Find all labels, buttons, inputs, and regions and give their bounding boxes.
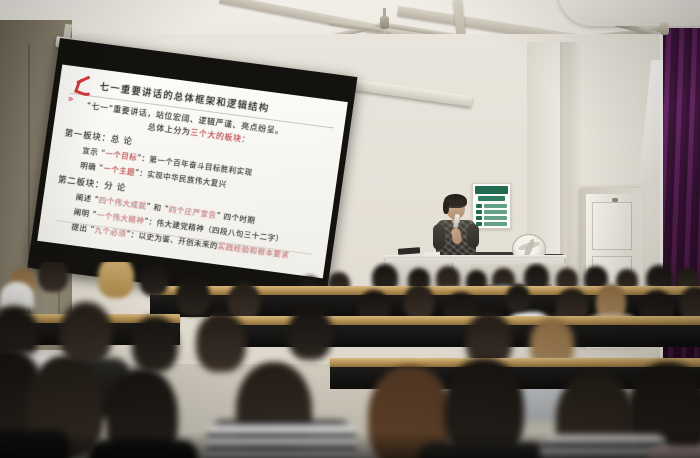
striped-shirt-attendee (206, 420, 356, 458)
notice-row (476, 204, 507, 208)
notice-line (484, 216, 507, 220)
desk-row (330, 358, 700, 367)
s2i1-e: ” 四个时期 (216, 211, 256, 225)
s1i2-a: 明确 “ (80, 161, 104, 173)
audience-head (140, 264, 168, 296)
door-hinge (612, 198, 618, 202)
audience-head (196, 312, 246, 372)
desk-row (210, 316, 700, 325)
audience-head (288, 306, 332, 360)
s2i1-a: 阐述 “ (75, 192, 99, 204)
s2i1-d: 四个庄严宣告 (168, 205, 217, 220)
audience-head (132, 316, 178, 372)
glasses-icon (447, 204, 464, 209)
s1i1-b: 一个目标 (105, 149, 138, 162)
notice-board-subheader (478, 196, 505, 201)
intro2-a: 总体上分为 (147, 122, 191, 137)
notice-line (484, 222, 507, 226)
audience-head-blonde (98, 262, 134, 298)
audience-head (404, 284, 434, 320)
slide-content: 七一重要讲话的总体框架和逻辑结构 » “七一”重要讲话，站位宏阔、逻辑严谨、亮点… (49, 74, 339, 266)
audience-area (0, 262, 700, 458)
fan-hub (380, 16, 389, 29)
presenter-sleeve (433, 224, 445, 250)
notice-board-header (475, 186, 508, 194)
lecture-hall-photo: 七一重要讲话的总体框架和逻辑结构 » “七一”重要讲话，站位宏阔、逻辑严谨、亮点… (0, 0, 700, 458)
audience-head (176, 276, 210, 316)
air-conditioner-unit (558, 0, 700, 26)
audience-torso-foreground (88, 440, 198, 458)
notice-line (484, 210, 507, 214)
audience-torso-foreground (0, 430, 70, 458)
s2i1-b: 四个伟大成就 (98, 195, 147, 210)
audience-torso-foreground (418, 442, 548, 458)
s2i1-c: ” 和 “ (146, 202, 170, 214)
door-panel (592, 202, 632, 250)
presenter-sleeve (467, 224, 479, 248)
notice-line (484, 204, 507, 208)
s2i2-b: 一个伟大精神 (96, 210, 145, 225)
audience-head (60, 302, 112, 364)
s1i1-a: 宣示 “ (82, 146, 106, 158)
fan-hub (660, 22, 669, 35)
notice-row (476, 210, 507, 214)
s1i2-b: 一个主题 (103, 164, 136, 177)
audience-head (38, 262, 68, 292)
notice-row (476, 216, 507, 220)
audience-head (506, 284, 530, 312)
s2i2-a: 阐明 “ (73, 207, 97, 219)
audience-torso-foreground (646, 446, 700, 458)
desk-front (210, 325, 700, 347)
slide-surface: 七一重要讲话的总体框架和逻辑结构 » “七一”重要讲话，站位宏阔、逻辑严谨、亮点… (37, 65, 348, 279)
notice-row (476, 222, 507, 226)
audience-torso (0, 282, 34, 308)
cpc-party-emblem-icon (73, 74, 95, 92)
